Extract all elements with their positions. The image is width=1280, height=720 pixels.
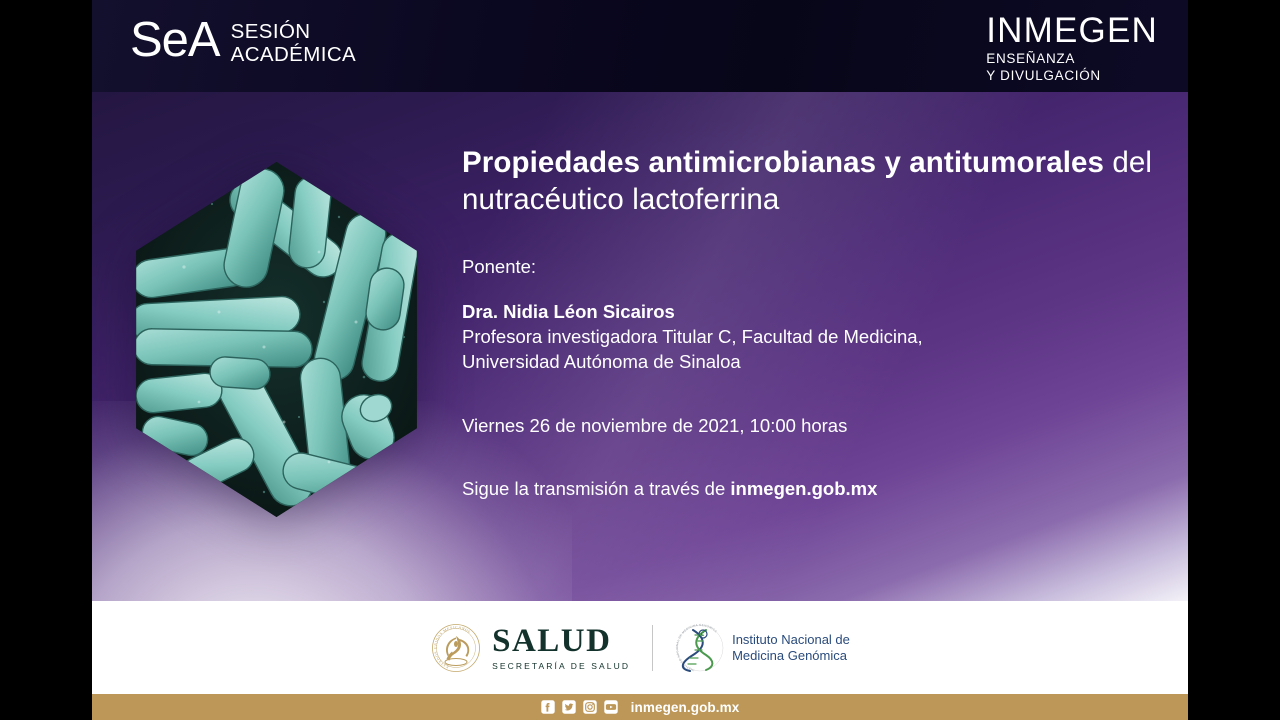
inmegen-institutional-logo: INSTITUTO NACIONAL DE MEDICINA GENÓMICA … [675,623,850,673]
slide-body: Propiedades antimicrobianas y antitumora… [92,92,1188,601]
sea-subtitle: SESIÓN ACADÉMICA [231,20,356,66]
salud-logo: ESTADOS UNIDOS MEXICANOS SALUD SECRETARÍ… [430,623,630,673]
slide-header: SeA SESIÓN ACADÉMICA INMEGEN ENSEÑANZA Y… [92,0,1188,92]
logo-divider [652,625,653,671]
stream-prefix: Sigue la transmisión a través de [462,478,730,499]
talk-title: Propiedades antimicrobianas y antitumora… [462,144,1152,218]
video-frame: SeA SESIÓN ACADÉMICA INMEGEN ENSEÑANZA Y… [0,0,1280,720]
institute-name-line2: Medicina Genómica [732,648,850,664]
hero-image-hexagon [124,162,429,517]
bacteria-svg [124,162,429,517]
sea-wordmark: SeA [130,14,220,66]
presentation-slide: SeA SESIÓN ACADÉMICA INMEGEN ENSEÑANZA Y… [92,0,1188,720]
bacteria-micrograph [124,162,429,517]
instagram-icon[interactable] [583,700,597,714]
salud-subtitle: SECRETARÍA DE SALUD [492,662,630,671]
institutional-logo-band: ESTADOS UNIDOS MEXICANOS SALUD SECRETARÍ… [92,601,1188,694]
event-datetime: Viernes 26 de noviembre de 2021, 10:00 h… [462,414,1152,438]
speaker-affiliation-line2: Universidad Autónoma de Sinaloa [462,349,1152,374]
institute-name: Instituto Nacional de Medicina Genómica [732,632,850,664]
stream-site: inmegen.gob.mx [730,478,877,499]
facebook-icon[interactable] [541,700,555,714]
mexican-national-seal-icon: ESTADOS UNIDOS MEXICANOS [430,623,482,673]
dna-helix-icon: INSTITUTO NACIONAL DE MEDICINA GENÓMICA … [675,623,725,673]
speaker-label: Ponente: [462,255,1152,279]
stream-notice: Sigue la transmisión a través de inmegen… [462,477,1152,501]
salud-text-lockup: SALUD SECRETARÍA DE SALUD [492,625,630,671]
salud-wordmark: SALUD [492,625,630,658]
speaker-affiliation-line1: Profesora investigadora Titular C, Facul… [462,324,1152,349]
inmegen-tagline-line2: Y DIVULGACIÓN [986,67,1158,84]
inmegen-tagline-line1: ENSEÑANZA [986,50,1158,67]
sea-subtitle-line1: SESIÓN [231,20,356,43]
social-bar: inmegen.gob.mx [92,694,1188,720]
sea-subtitle-line2: ACADÉMICA [231,43,356,66]
speaker-name: Dra. Nidia Léon Sicairos [462,299,1152,324]
institute-name-line1: Instituto Nacional de [732,632,850,648]
inmegen-wordmark: INMEGEN [986,12,1158,50]
social-url[interactable]: inmegen.gob.mx [631,700,740,715]
twitter-icon[interactable] [562,700,576,714]
inmegen-logo: INMEGEN ENSEÑANZA Y DIVULGACIÓN [986,12,1158,84]
sea-logo: SeA SESIÓN ACADÉMICA [130,14,356,66]
slide-text-column: Propiedades antimicrobianas y antitumora… [462,144,1152,501]
youtube-icon[interactable] [604,700,618,714]
talk-title-bold: Propiedades antimicrobianas y antitumora… [462,146,1104,179]
